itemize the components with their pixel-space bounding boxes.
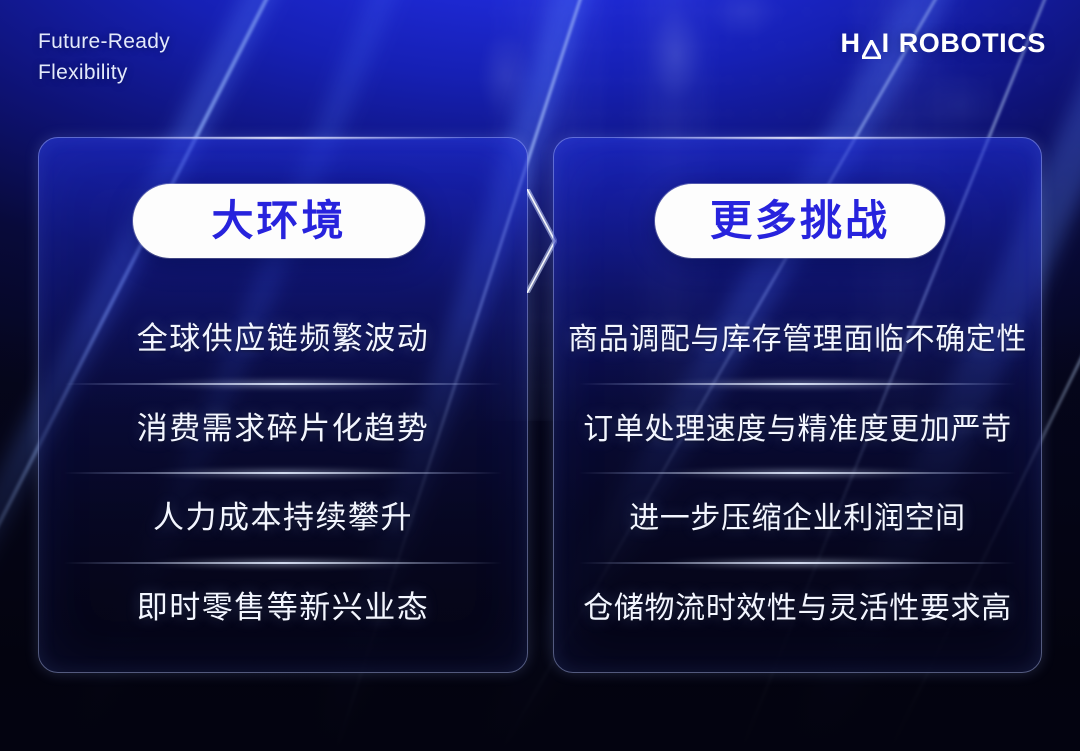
list-item: 订单处理速度与精准度更加严苛 xyxy=(553,385,1042,475)
list-item-label: 全球供应链频繁波动 xyxy=(137,320,430,359)
list-item-label: 即时零售等新兴业态 xyxy=(137,589,430,628)
page-kicker: Future-Ready Flexibility xyxy=(38,26,170,88)
list-item: 消费需求碎片化趋势 xyxy=(38,385,528,475)
card-title-label: 大环境 xyxy=(211,200,346,242)
card-title-label: 更多挑战 xyxy=(710,200,890,242)
list-item-label: 订单处理速度与精准度更加严苛 xyxy=(583,411,1011,449)
card-item-list: 商品调配与库存管理面临不确定性 订单处理速度与精准度更加严苛 进一步压缩企业利润… xyxy=(553,295,1042,653)
logo-text-i: I xyxy=(882,28,890,59)
list-item: 商品调配与库存管理面临不确定性 xyxy=(553,295,1042,385)
card-title-pill-more-challenges: 更多挑战 xyxy=(655,184,945,258)
list-item: 即时零售等新兴业态 xyxy=(38,564,528,654)
card-big-environment: 大环境 全球供应链频繁波动 消费需求碎片化趋势 人力成本持续攀升 即时零售等新兴… xyxy=(38,137,528,673)
triangle-a-icon xyxy=(862,35,881,54)
list-item-label: 进一步压缩企业利润空间 xyxy=(629,500,966,538)
list-item-label: 仓储物流时效性与灵活性要求高 xyxy=(583,590,1011,628)
card-title-pill-big-environment: 大环境 xyxy=(133,184,425,258)
card-more-challenges: 更多挑战 商品调配与库存管理面临不确定性 订单处理速度与精准度更加严苛 进一步压… xyxy=(553,137,1042,673)
list-item: 仓储物流时效性与灵活性要求高 xyxy=(553,564,1042,654)
list-item-label: 人力成本持续攀升 xyxy=(153,499,413,538)
list-item: 人力成本持续攀升 xyxy=(38,474,528,564)
list-item: 进一步压缩企业利润空间 xyxy=(553,474,1042,564)
logo-text-h: H xyxy=(840,28,860,59)
slide-canvas: Future-Ready Flexibility H I ROBOTICS 大环… xyxy=(0,0,1080,751)
brand-logo: H I ROBOTICS xyxy=(840,28,1046,59)
list-item-label: 消费需求碎片化趋势 xyxy=(137,410,430,449)
list-item-label: 商品调配与库存管理面临不确定性 xyxy=(568,321,1027,359)
logo-text-robotics: ROBOTICS xyxy=(899,28,1046,59)
list-item: 全球供应链频繁波动 xyxy=(38,295,528,385)
card-item-list: 全球供应链频繁波动 消费需求碎片化趋势 人力成本持续攀升 即时零售等新兴业态 xyxy=(38,295,528,653)
